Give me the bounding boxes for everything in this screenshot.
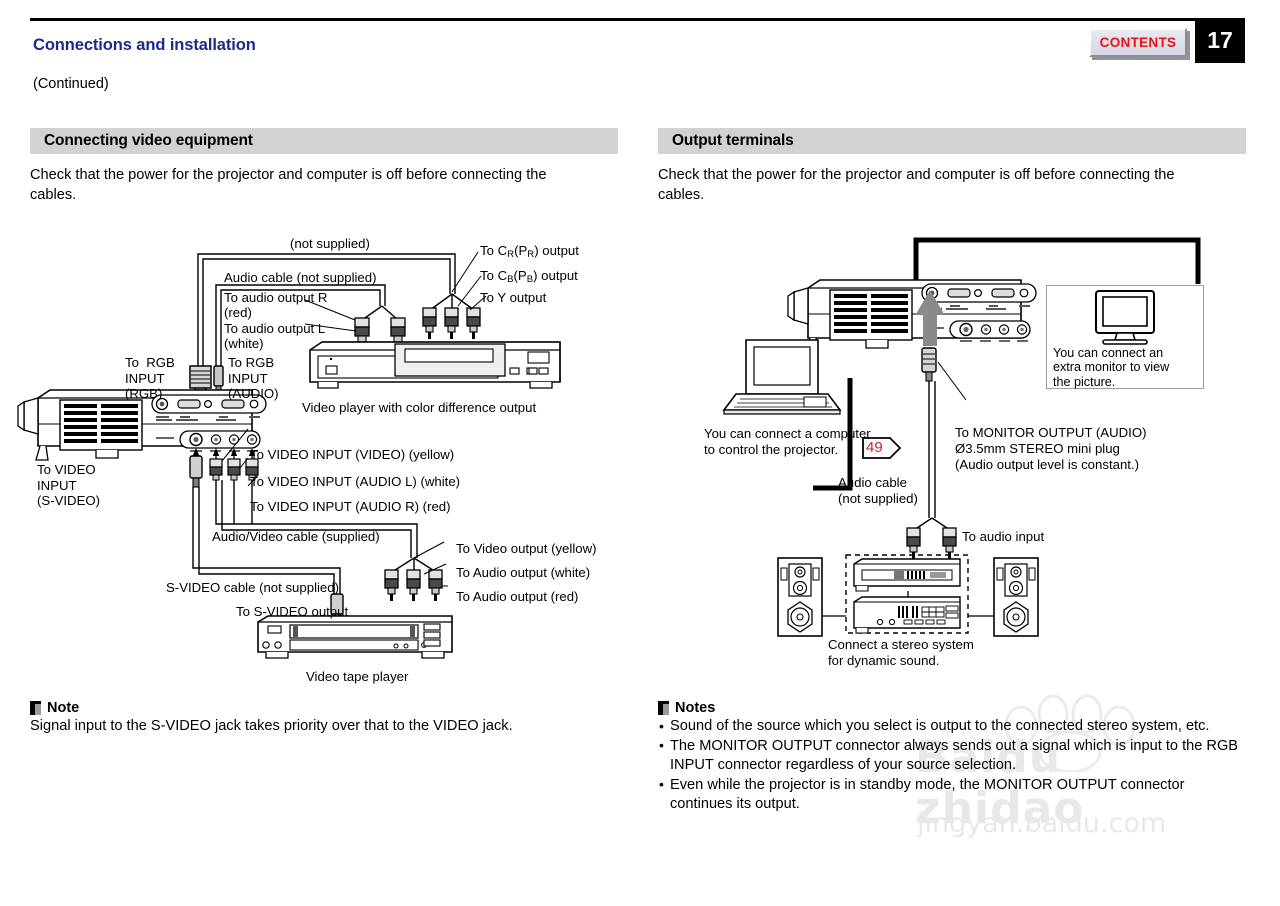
label-audio-cable-not-supplied: Audio cable (not supplied) — [224, 270, 377, 286]
note-item: Sound of the source which you select is … — [658, 717, 1248, 737]
video-tape-player-illustration — [258, 616, 452, 658]
caption-video-tape-player: Video tape player — [306, 669, 408, 685]
page-reference-49[interactable]: 49 — [862, 437, 902, 459]
section-title-left: Connecting video equipment — [30, 132, 253, 150]
stereo-system-illustration — [778, 555, 1038, 636]
rca-plug-pair-right — [907, 518, 956, 559]
label-to-cb-output: To CB(PB) output — [480, 268, 578, 286]
contents-button[interactable]: CONTENTS — [1089, 28, 1187, 57]
label-to-audio-output-l: To audio output L — [224, 321, 325, 337]
label-to-video-input-svideo: To VIDEO INPUT (S-VIDEO) — [37, 462, 100, 509]
label-av-cable-supplied: Audio/Video cable (supplied) — [212, 529, 380, 545]
label-to-video-input-audio-l: To VIDEO INPUT (AUDIO L) (white) — [250, 474, 460, 490]
label-to-audio-output-red: To Audio output (red) — [456, 589, 578, 605]
label-monitor-output-line3: (Audio output level is constant.) — [955, 457, 1139, 473]
note-item: The MONITOR OUTPUT connector always send… — [658, 737, 1248, 776]
label-to-cr-output: To CR(PR) output — [480, 243, 579, 261]
monitor-icon — [1090, 288, 1160, 346]
label-to-audio-output-r-color: (red) — [224, 305, 252, 321]
label-to-video-input-audio-r: To VIDEO INPUT (AUDIO R) (red) — [250, 499, 451, 515]
label-audio-cable-sub: (not supplied) — [838, 491, 918, 507]
monitor-callout-box: You can connect an extra monitor to view… — [1046, 285, 1204, 389]
section-title-right: Output terminals — [658, 132, 794, 150]
note-block-left: Note Signal input to the S-VIDEO jack ta… — [30, 700, 630, 737]
label-audio-cable: Audio cable — [838, 475, 907, 491]
monitor-callout-text: You can connect an extra monitor to view… — [1053, 346, 1169, 389]
notes-list: Sound of the source which you select is … — [658, 717, 1248, 815]
label-computer-caption: You can connect a computer to control th… — [704, 426, 871, 457]
label-not-supplied: (not supplied) — [290, 236, 370, 252]
notes-heading-text: Notes — [675, 700, 715, 716]
label-monitor-output-line2: Ø3.5mm STEREO mini plug — [955, 441, 1120, 457]
intro-text-right: Check that the power for the projector a… — [658, 166, 1218, 205]
label-svideo-cable-not-supplied: S-VIDEO cable (not supplied) — [166, 580, 339, 596]
intro-text-left: Check that the power for the projector a… — [30, 166, 590, 205]
page-ref-number: 49 — [866, 439, 883, 456]
label-to-svideo-output: To S-VIDEO output — [236, 604, 348, 620]
page-title: Connections and installation — [33, 36, 256, 55]
continued-label: (Continued) — [33, 76, 109, 92]
label-to-video-input-video: To VIDEO INPUT (VIDEO) (yellow) — [250, 447, 454, 463]
note-body-left: Signal input to the S-VIDEO jack takes p… — [30, 717, 630, 737]
projector-illustration-right — [788, 280, 1036, 352]
label-to-video-output-yellow: To Video output (yellow) — [456, 541, 597, 557]
page-number-box: 17 — [1195, 18, 1245, 63]
label-monitor-output-line1: To MONITOR OUTPUT (AUDIO) — [955, 425, 1146, 441]
label-to-audio-input: To audio input — [962, 529, 1044, 545]
note-heading-left: Note — [30, 700, 630, 716]
caption-video-player: Video player with color difference outpu… — [302, 400, 536, 416]
label-to-rgb-input-audio: To RGB INPUT (AUDIO) — [228, 355, 279, 402]
section-header-output-terminals: Output terminals — [658, 128, 1246, 154]
note-icon — [658, 701, 669, 715]
contents-button-label: CONTENTS — [1100, 35, 1177, 50]
caption-stereo-system: Connect a stereo system for dynamic soun… — [828, 637, 974, 668]
section-header-connecting-video: Connecting video equipment — [30, 128, 618, 154]
header-rule — [30, 18, 1245, 21]
label-to-audio-output-r: To audio output R — [224, 290, 327, 306]
laptop-illustration — [724, 340, 840, 414]
notes-heading-right: Notes — [658, 700, 1248, 716]
label-to-audio-output-l-color: (white) — [224, 336, 264, 352]
notes-block-right: Notes Sound of the source which you sele… — [658, 700, 1248, 815]
note-icon — [30, 701, 41, 715]
label-to-y-output: To Y output — [480, 290, 546, 306]
note-item: Even while the projector is in standby m… — [658, 776, 1248, 815]
label-to-audio-output-white: To Audio output (white) — [456, 565, 590, 581]
video-player-illustration — [310, 342, 560, 388]
label-to-rgb-input-rgb: To RGB INPUT (RGB) — [125, 355, 175, 402]
page-number: 17 — [1207, 27, 1233, 54]
note-heading-text: Note — [47, 700, 79, 716]
